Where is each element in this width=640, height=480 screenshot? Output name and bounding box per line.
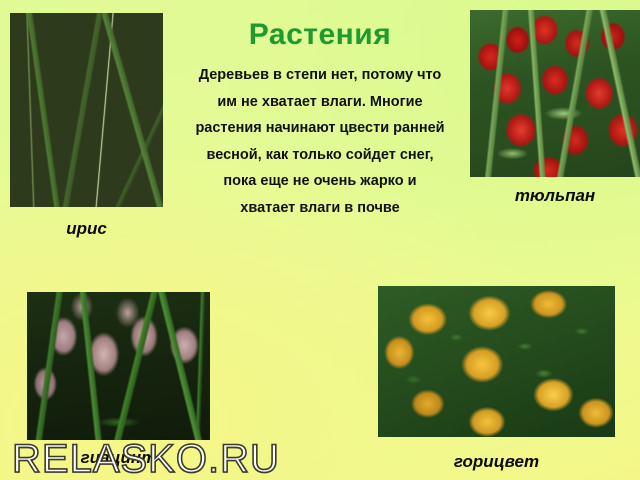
- body-line: весной, как только сойдет снег,: [160, 142, 480, 169]
- caption-adonis: горицвет: [378, 452, 615, 472]
- photo-hyacinth-foliage: [27, 292, 210, 440]
- photo-hyacinth: [27, 292, 210, 440]
- body-line: пока еще не очень жарко и: [160, 168, 480, 195]
- caption-iris: ирис: [10, 219, 163, 239]
- slide-body-text: Деревьев в степи нет, потому что им не х…: [160, 62, 480, 221]
- slide-title: Растения: [0, 18, 640, 52]
- presentation-slide: ирис тюльпан гиацинт горицвет Растения Д…: [0, 0, 640, 480]
- photo-adonis: [378, 286, 615, 437]
- body-line: им не хватает влаги. Многие: [160, 89, 480, 116]
- photo-adonis-foliage: [378, 286, 615, 437]
- body-line: хватает влаги в почве: [160, 195, 480, 222]
- caption-tulip: тюльпан: [470, 186, 640, 206]
- body-line: Деревьев в степи нет, потому что: [160, 62, 480, 89]
- watermark: RELASKO.RU: [12, 437, 280, 480]
- body-line: растения начинают цвести ранней: [160, 115, 480, 142]
